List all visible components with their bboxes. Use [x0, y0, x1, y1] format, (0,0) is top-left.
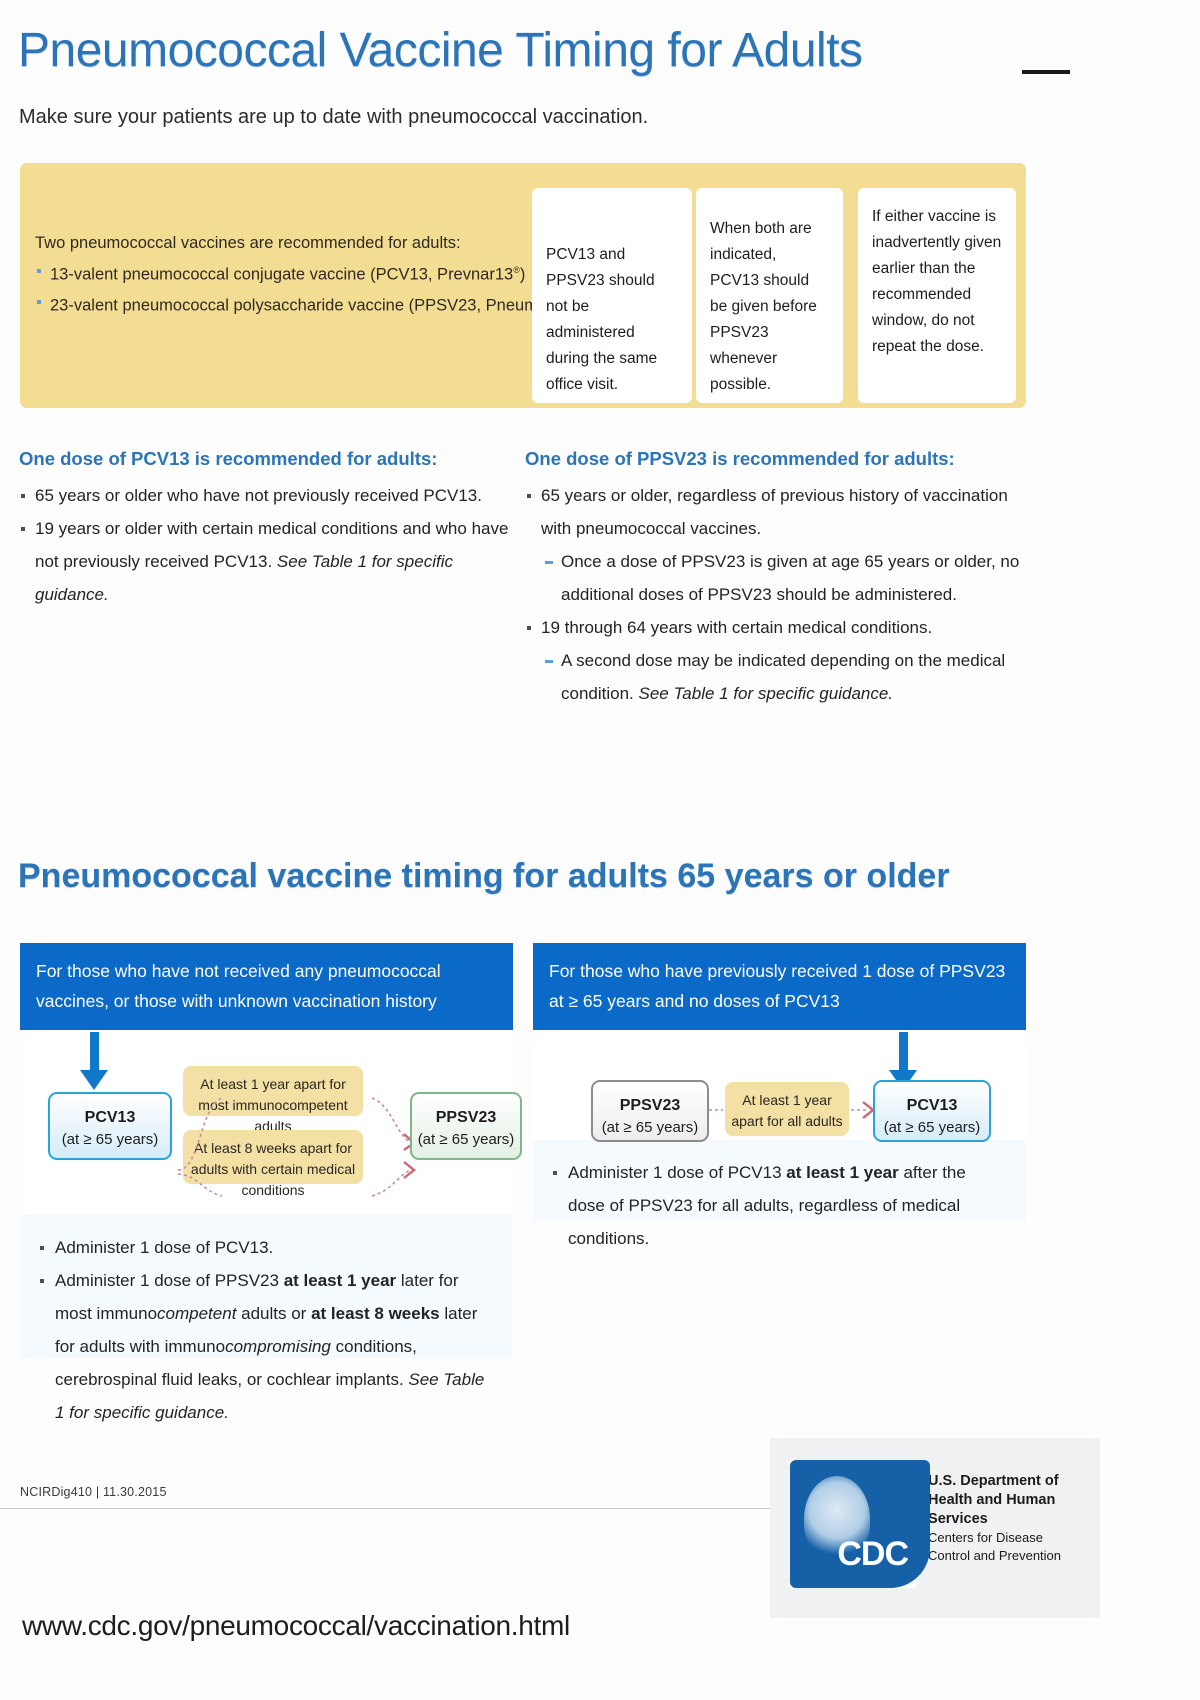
arrow-shaft [899, 1032, 908, 1072]
agency-line-4: Control and Prevention [928, 1547, 1100, 1565]
flow-box-first: PPSV23 (at ≥ 65 years) [591, 1080, 709, 1142]
ppsv23-recommendations: One dose of PPSV23 is recommended for ad… [525, 448, 1025, 710]
panel-body: PCV13 (at ≥ 65 years) At least 1 year ap… [20, 1030, 513, 1358]
flow-box-second: PCV13 (at ≥ 65 years) [873, 1080, 991, 1142]
flow-connectors [703, 1080, 893, 1160]
list-item: 13-valent pneumococcal conjugate vaccine… [35, 258, 525, 288]
pcv13-recommendations: One dose of PCV13 is recommended for adu… [19, 448, 514, 611]
pcv13-recommendations-heading: One dose of PCV13 is recommended for adu… [19, 448, 514, 470]
flow-box-sub: (at ≥ 65 years) [593, 1117, 707, 1139]
agency-line-3: Centers for Disease [928, 1529, 1100, 1547]
flow-box-sub: (at ≥ 65 years) [50, 1129, 170, 1151]
flow-box-sub: (at ≥ 65 years) [412, 1129, 520, 1151]
registered-mark-icon: ® [513, 265, 520, 275]
note-card-text: If either vaccine is inadvertently given… [872, 204, 1002, 360]
panel-header: For those who have not received any pneu… [20, 943, 513, 1030]
recommended-vaccines-banner: Two pneumococcal vaccines are recommende… [20, 163, 1026, 408]
note-card-text: When both are indicated, PCV13 should be… [710, 204, 829, 398]
footer-divider [0, 1508, 770, 1509]
timing-panel-no-prior-vaccines: For those who have not received any pneu… [20, 943, 513, 1358]
list-item: Administer 1 dose of PPSV23 at least 1 y… [38, 1264, 493, 1429]
flow-diagram: PPSV23 (at ≥ 65 years) At least 1 year a… [533, 1030, 1026, 1140]
list-item: A second dose may be indicated depending… [525, 644, 1025, 710]
arrow-shaft [90, 1032, 99, 1072]
list-item: Administer 1 dose of PCV13. [38, 1231, 493, 1264]
flow-box-name: PPSV23 [593, 1095, 707, 1117]
banner-vaccine-list: Two pneumococcal vaccines are recommende… [35, 231, 525, 319]
agency-line-2: Health and Human Services [928, 1491, 1100, 1529]
flow-box-first: PCV13 (at ≥ 65 years) [48, 1092, 172, 1160]
flow-box-second: PPSV23 (at ≥ 65 years) [410, 1092, 522, 1160]
list-item: 19 through 64 years with certain medical… [525, 611, 1025, 644]
panel-bullet-list: Administer 1 dose of PCV13. Administer 1… [38, 1231, 493, 1429]
section-title-timing: Pneumococcal vaccine timing for adults 6… [18, 855, 950, 897]
document-id: NCIRDig410 | 11.30.2015 [20, 1485, 167, 1499]
flow-box-name: PCV13 [50, 1107, 170, 1129]
panel-bullets: Administer 1 dose of PCV13. Administer 1… [20, 1215, 513, 1439]
ppsv23-recommendations-heading: One dose of PPSV23 is recommended for ad… [525, 448, 1025, 470]
note-card-no-repeat: If either vaccine is inadvertently given… [858, 188, 1016, 403]
list-item: 65 years or older, regardless of previou… [525, 479, 1025, 545]
timing-panel-prior-ppsv23: For those who have previously received 1… [533, 943, 1026, 1221]
agency-line-1: U.S. Department of [928, 1472, 1100, 1491]
note-card-text: PCV13 and PPSV23 should not be administe… [546, 204, 678, 398]
banner-lead-text: Two pneumococcal vaccines are recommende… [35, 231, 525, 256]
note-card-order: When both are indicated, PCV13 should be… [696, 188, 843, 403]
infographic-page: Pneumococcal Vaccine Timing for Adults M… [0, 0, 1200, 1700]
list-item: Administer 1 dose of PCV13 at least 1 ye… [551, 1156, 1006, 1255]
footer-url[interactable]: www.cdc.gov/pneumococcal/vaccination.htm… [22, 1610, 570, 1642]
banner-bullet-list: 13-valent pneumococcal conjugate vaccine… [35, 258, 525, 318]
flow-diagram: PCV13 (at ≥ 65 years) At least 1 year ap… [20, 1030, 513, 1215]
list-item: Once a dose of PPSV23 is given at age 65… [525, 545, 1025, 611]
ppsv23-bullet-list: 65 years or older, regardless of previou… [525, 479, 1025, 710]
page-title: Pneumococcal Vaccine Timing for Adults [18, 22, 863, 80]
cdc-logo-icon: CDC [790, 1460, 916, 1588]
list-item: 19 years or older with certain medical c… [19, 512, 514, 611]
panel-header: For those who have previously received 1… [533, 943, 1026, 1030]
down-arrow-icon [80, 1032, 109, 1090]
arrow-head [80, 1070, 108, 1090]
flow-box-name: PCV13 [875, 1095, 989, 1117]
list-item: 23-valent pneumococcal polysaccharide va… [35, 289, 525, 319]
header-rule [1022, 70, 1070, 74]
panel-bullets: Administer 1 dose of PCV13 at least 1 ye… [533, 1140, 1026, 1265]
flow-connectors [160, 1070, 450, 1200]
page-subtitle: Make sure your patients are up to date w… [19, 104, 648, 130]
panel-bullet-list: Administer 1 dose of PCV13 at least 1 ye… [551, 1156, 1006, 1255]
flow-box-sub: (at ≥ 65 years) [875, 1117, 989, 1139]
pcv13-bullet-list: 65 years or older who have not previousl… [19, 479, 514, 611]
cdc-logo-text: CDC [837, 1535, 908, 1574]
hhs-cdc-logo-block: CDC U.S. Department of Health and Human … [770, 1438, 1100, 1618]
note-card-same-visit: PCV13 and PPSV23 should not be administe… [532, 188, 692, 403]
panel-body: PPSV23 (at ≥ 65 years) At least 1 year a… [533, 1030, 1026, 1221]
agency-text: U.S. Department of Health and Human Serv… [928, 1472, 1100, 1565]
flow-box-name: PPSV23 [412, 1107, 520, 1129]
list-item: 65 years or older who have not previousl… [19, 479, 514, 512]
